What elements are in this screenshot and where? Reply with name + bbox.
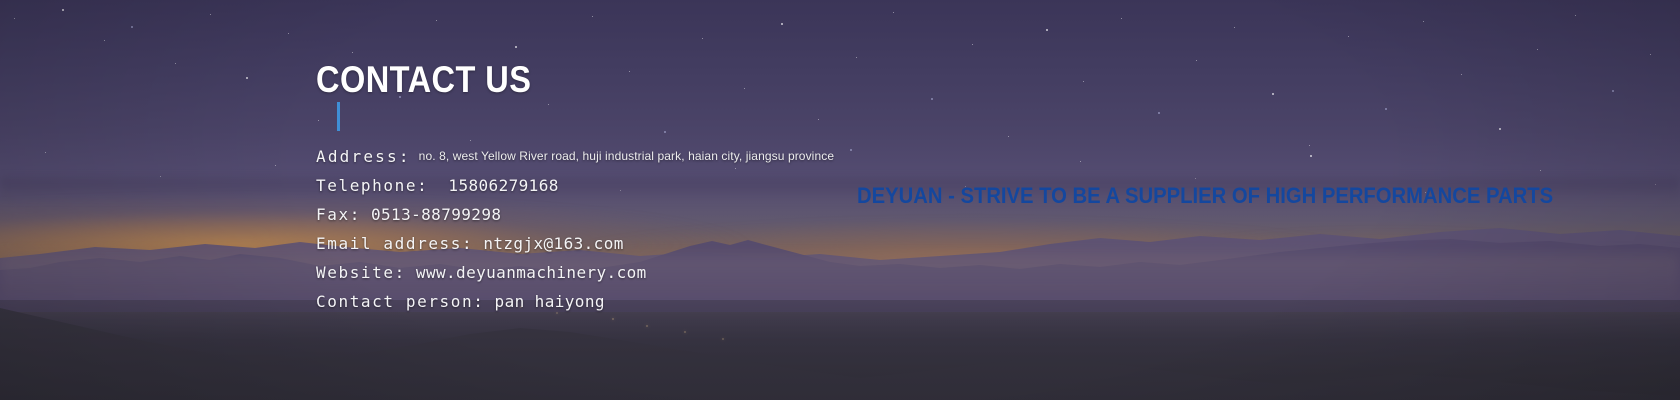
website-label: Website: — [316, 263, 406, 282]
address-value: no. 8, west Yellow River road, huji indu… — [419, 149, 834, 163]
telephone-label: Telephone: — [316, 176, 428, 195]
contact-person-value: pan haiyong — [495, 292, 605, 311]
contact-row-address: Address:no. 8, west Yellow River road, h… — [316, 142, 834, 171]
fax-value: 0513-88799298 — [371, 205, 501, 224]
contact-row-contact-person: Contact person: pan haiyong — [316, 287, 834, 316]
address-label: Address: — [316, 147, 411, 166]
contact-row-telephone: Telephone: 15806279168 — [316, 171, 834, 200]
fax-label: Fax: — [316, 205, 361, 224]
contact-row-website: Website: www.deyuanmachinery.com — [316, 258, 834, 287]
banner-content: CONTACT US Address:no. 8, west Yellow Ri… — [0, 0, 1680, 400]
contact-row-fax: Fax: 0513-88799298 — [316, 200, 834, 229]
email-label: Email address: — [316, 234, 473, 253]
contact-person-label: Contact person: — [316, 292, 485, 311]
contact-row-email: Email address: ntzgjx@163.com — [316, 229, 834, 258]
company-slogan: DEYUAN - STRIVE TO BE A SUPPLIER OF HIGH… — [857, 183, 1553, 209]
email-value[interactable]: ntzgjx@163.com — [483, 234, 623, 253]
contact-us-banner: CONTACT US Address:no. 8, west Yellow Ri… — [0, 0, 1680, 400]
accent-bar — [337, 102, 340, 131]
page-title: CONTACT US — [316, 60, 531, 100]
contact-details-list: Address:no. 8, west Yellow River road, h… — [316, 142, 834, 316]
telephone-value[interactable]: 15806279168 — [448, 176, 558, 195]
website-value[interactable]: www.deyuanmachinery.com — [416, 263, 647, 282]
